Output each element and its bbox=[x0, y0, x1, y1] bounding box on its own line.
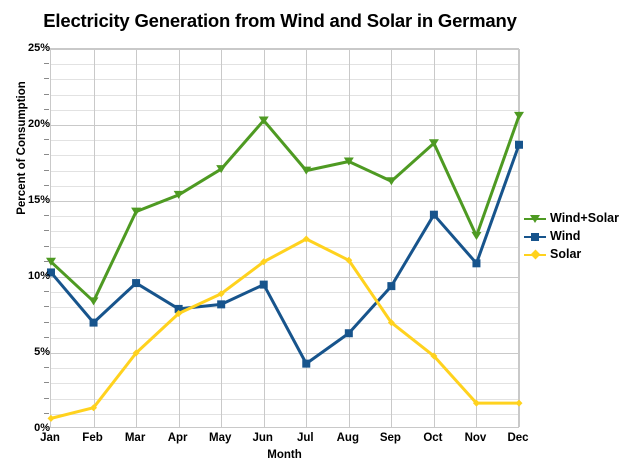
y-axis-tick-mark bbox=[44, 94, 49, 95]
legend-label: Wind bbox=[550, 230, 580, 243]
data-point bbox=[471, 232, 481, 240]
y-axis-tick-mark bbox=[44, 246, 49, 247]
data-point bbox=[90, 319, 98, 327]
y-axis-tick-mark bbox=[44, 200, 49, 201]
data-point bbox=[387, 282, 395, 290]
y-axis-tick-mark bbox=[44, 413, 49, 414]
data-point bbox=[89, 297, 99, 305]
y-axis-tick-mark bbox=[44, 291, 49, 292]
y-axis-tick-mark bbox=[44, 139, 49, 140]
data-point bbox=[302, 360, 310, 368]
data-point bbox=[217, 300, 225, 308]
y-axis-tick-mark bbox=[44, 306, 49, 307]
legend-item-solar[interactable]: Solar bbox=[524, 246, 623, 263]
y-axis-tick-mark bbox=[44, 48, 49, 49]
y-axis-tick-mark bbox=[44, 276, 49, 277]
data-point bbox=[516, 400, 523, 407]
x-axis-title: Month bbox=[50, 449, 519, 461]
legend-item-wind[interactable]: Wind bbox=[524, 228, 623, 245]
plot-area bbox=[50, 48, 519, 428]
y-axis-tick-mark bbox=[44, 322, 49, 323]
data-point bbox=[345, 329, 353, 337]
legend-swatch-icon bbox=[524, 212, 546, 225]
legend-label: Solar bbox=[550, 248, 581, 261]
y-axis-tick-mark bbox=[44, 185, 49, 186]
y-axis-title: Percent of Consumption bbox=[16, 48, 28, 248]
y-axis-tick-mark bbox=[44, 170, 49, 171]
y-axis-tick-mark bbox=[44, 78, 49, 79]
data-point bbox=[430, 211, 438, 219]
y-axis-tick-mark bbox=[44, 154, 49, 155]
y-axis-tick-mark bbox=[44, 337, 49, 338]
y-axis-tick-mark bbox=[44, 63, 49, 64]
legend-swatch-icon bbox=[524, 248, 546, 261]
data-point bbox=[515, 141, 523, 149]
chart-legend: Wind+SolarWindSolar bbox=[524, 210, 623, 264]
y-axis-tick-mark bbox=[44, 367, 49, 368]
y-axis-tick-mark bbox=[44, 398, 49, 399]
y-axis-tick-mark bbox=[44, 230, 49, 231]
y-axis-tick-mark bbox=[44, 352, 49, 353]
data-point bbox=[132, 279, 140, 287]
series-line bbox=[51, 239, 519, 418]
y-axis-tick-mark bbox=[44, 261, 49, 262]
chart-container: Electricity Generation from Wind and Sol… bbox=[0, 0, 623, 467]
chart-title: Electricity Generation from Wind and Sol… bbox=[0, 10, 560, 32]
y-axis-tick-mark bbox=[44, 382, 49, 383]
data-point bbox=[260, 281, 268, 289]
y-axis-tick-mark bbox=[44, 428, 49, 429]
y-axis-tick-mark bbox=[44, 109, 49, 110]
series-wind bbox=[47, 141, 523, 368]
series-wind-solar bbox=[46, 112, 524, 305]
data-point bbox=[514, 112, 524, 120]
data-point bbox=[472, 259, 480, 267]
y-axis-tick-mark bbox=[44, 124, 49, 125]
series-line bbox=[51, 116, 519, 301]
legend-item-wind-solar[interactable]: Wind+Solar bbox=[524, 210, 623, 227]
series-solar bbox=[48, 236, 523, 422]
legend-label: Wind+Solar bbox=[550, 212, 619, 225]
x-axis-tick-label: Dec bbox=[488, 432, 548, 444]
legend-swatch-icon bbox=[524, 230, 546, 243]
y-axis-tick-mark bbox=[44, 215, 49, 216]
series-layer bbox=[51, 49, 520, 429]
